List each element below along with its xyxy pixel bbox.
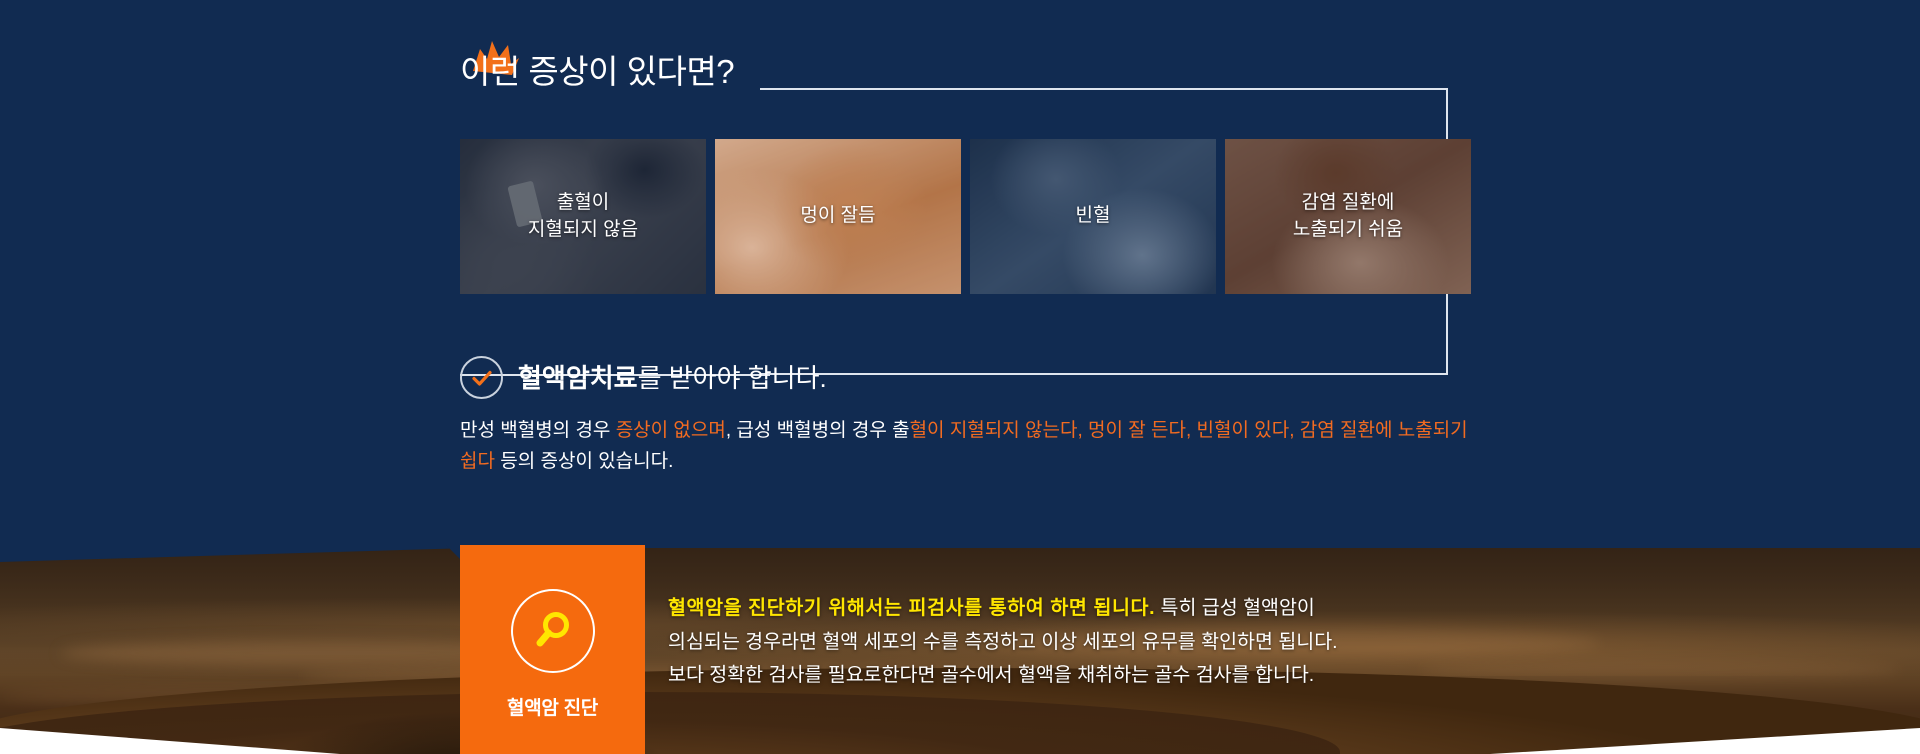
page-root: 이런 증상이 있다면? 출혈이 지혈되지 않음 멍이 잘듬 빈혈 감염 질환에 … [0,0,1920,754]
symptoms-heading-text: 이런 증상이 있다면? [460,55,734,88]
symptoms-heading: 이런 증상이 있다면? [460,55,734,88]
symptom-card-label: 출혈이 지혈되지 않음 [528,190,638,242]
diagnosis-text: 보다 정확한 검사를 필요로한다면 골수에서 혈액을 채취하는 골수 검사를 합… [668,664,1314,686]
diagnosis-badge-label: 혈액암 진단 [507,693,598,720]
symptom-card-label: 멍이 잘듬 [800,203,875,229]
diagnosis-line: 의심되는 경우라면 혈액 세포의 수를 측정하고 이상 세포의 유무를 확인하면… [668,626,1498,660]
diagnosis-line: 보다 정확한 검사를 필요로한다면 골수에서 혈액을 채취하는 골수 검사를 합… [668,659,1498,693]
diagnosis-text: 의심되는 경우라면 혈액 세포의 수를 측정하고 이상 세포의 유무를 확인하면… [668,631,1338,653]
diagnosis-badge[interactable]: 혈액암 진단 [460,545,645,754]
treatment-description: 만성 백혈병의 경우 증상이 없으며, 급성 백혈병의 경우 출혈이 지혈되지 … [460,416,1470,478]
magnifier-icon [511,589,595,673]
symptom-card-label: 감염 질환에 노출되기 쉬움 [1293,190,1403,242]
treatment-title-bold: 혈액암치료 [518,363,638,393]
treatment-title-rest: 를 받아야 합니다. [638,363,827,393]
diagnosis-description: 혈액암을 진단하기 위해서는 피검사를 통하여 하면 됩니다. 특히 급성 혈액… [668,592,1498,693]
description-text: 만성 백혈병의 경우 [460,420,616,441]
symptom-card-list: 출혈이 지혈되지 않음 멍이 잘듬 빈혈 감염 질환에 노출되기 쉬움 [460,139,1471,294]
symptom-card[interactable]: 빈혈 [970,139,1216,294]
check-circle-icon [460,356,503,399]
description-text: , 급성 백혈병의 경우 출 [726,420,910,441]
treatment-headline: 혈액암치료를 받아야 합니다. [460,356,827,399]
symptom-card[interactable]: 멍이 잘듬 [715,139,961,294]
symptom-card[interactable]: 출혈이 지혈되지 않음 [460,139,706,294]
highlighted-phrase: 혈액암을 진단하기 위해서는 피검사를 통하여 하면 됩니다. [668,597,1155,619]
description-text: 등의 증상이 있습니다. [495,451,673,472]
symptom-card[interactable]: 감염 질환에 노출되기 쉬움 [1225,139,1471,294]
treatment-title: 혈액암치료를 받아야 합니다. [518,365,827,391]
symptom-card-label: 빈혈 [1076,203,1111,229]
diagnosis-line: 혈액암을 진단하기 위해서는 피검사를 통하여 하면 됩니다. 특히 급성 혈액… [668,592,1498,626]
diagnosis-text: 특히 급성 혈액암이 [1155,597,1315,619]
highlighted-phrase: 증상이 없으며 [616,420,726,441]
highlighted-phrase: 혈이 지혈되지 않는다, 멍이 잘 든다, 빈혈이 있다, [910,420,1295,441]
